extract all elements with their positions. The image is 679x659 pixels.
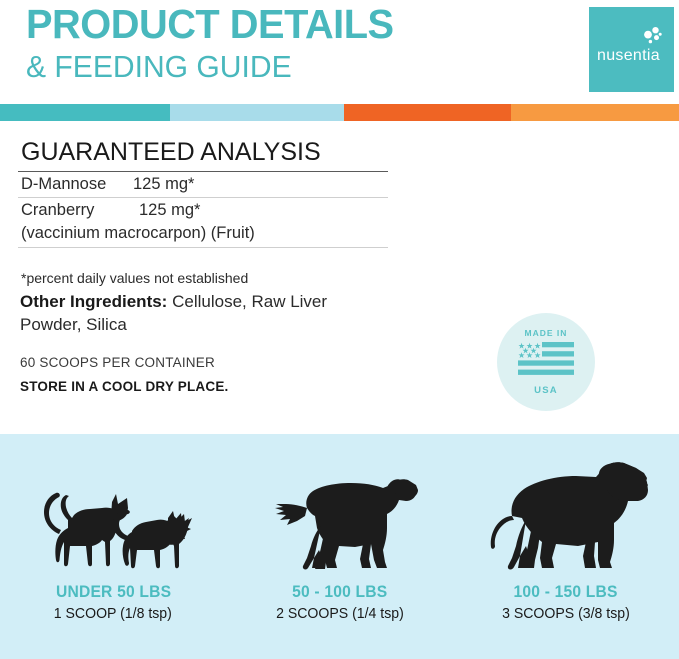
other-ingredients-value-2: Powder, Silica <box>20 314 370 337</box>
feeding-dose: 3 SCOOPS (3/8 tsp) <box>502 605 630 622</box>
color-band-light-orange <box>511 104 679 121</box>
color-band-orange <box>344 104 511 121</box>
page-header: PRODUCT DETAILS & FEEDING GUIDE nusentia <box>0 0 679 104</box>
feeding-weight-range: UNDER 50 LBS <box>56 582 171 602</box>
page-title: PRODUCT DETAILS <box>26 2 394 46</box>
title-block: PRODUCT DETAILS & FEEDING GUIDE <box>26 2 405 84</box>
cat-and-small-dog-silhouette-icon <box>28 456 198 576</box>
analysis-footnote: *percent daily values not established <box>21 270 388 286</box>
brand-logo: nusentia <box>589 7 674 92</box>
other-ingredients-panel: Other Ingredients: Cellulose, Raw Liver … <box>20 291 370 394</box>
feeding-guide-column-medium: 50 - 100 LBS 2 SCOOPS (1/4 tsp) <box>226 434 452 659</box>
accent-color-bar <box>0 104 679 121</box>
storage-instructions: STORE IN A COOL DRY PLACE. <box>20 379 370 394</box>
feeding-weight-range: 50 - 100 LBS <box>292 582 387 602</box>
color-band-teal <box>0 104 170 121</box>
color-band-light-blue <box>170 104 344 121</box>
large-dog-silhouette-icon <box>478 456 653 576</box>
guaranteed-analysis-panel: GUARANTEED ANALYSIS D-Mannose 125 mg* Cr… <box>18 138 388 286</box>
other-ingredients-value-1: Cellulose, Raw Liver <box>172 292 327 311</box>
other-ingredients-line-1: Other Ingredients: Cellulose, Raw Liver <box>20 291 370 314</box>
feeding-guide-column-small: UNDER 50 LBS 1 SCOOP (1/8 tsp) <box>0 434 226 659</box>
medium-dog-silhouette-icon <box>259 456 419 576</box>
made-in-usa-badge: MADE IN USA <box>497 313 595 411</box>
feeding-dose: 1 SCOOP (1/8 tsp) <box>54 605 172 622</box>
analysis-divider-bottom <box>18 247 388 248</box>
page-subtitle: & FEEDING GUIDE <box>26 50 394 84</box>
analysis-row-amount: 125 mg* <box>139 201 200 220</box>
made-in-label: MADE IN <box>525 328 568 338</box>
analysis-row: Cranberry 125 mg* <box>18 198 388 223</box>
guaranteed-analysis-title: GUARANTEED ANALYSIS <box>21 138 388 167</box>
bubbles-icon <box>643 27 663 49</box>
analysis-row-amount: 125 mg* <box>133 175 194 194</box>
usa-label: USA <box>534 385 558 396</box>
feeding-guide-column-large: 100 - 150 LBS 3 SCOOPS (3/8 tsp) <box>453 434 679 659</box>
analysis-row-name: Cranberry <box>21 201 139 220</box>
us-flag-icon <box>518 342 574 380</box>
feeding-guide-panel: UNDER 50 LBS 1 SCOOP (1/8 tsp) <box>0 434 679 659</box>
main-content: GUARANTEED ANALYSIS D-Mannose 125 mg* Cr… <box>0 121 679 434</box>
analysis-row: D-Mannose 125 mg* <box>18 172 388 197</box>
feeding-guide-columns: UNDER 50 LBS 1 SCOOP (1/8 tsp) <box>0 434 679 659</box>
other-ingredients-label: Other Ingredients: <box>20 292 167 311</box>
feeding-dose: 2 SCOOPS (1/4 tsp) <box>276 605 404 622</box>
feeding-weight-range: 100 - 150 LBS <box>514 582 618 602</box>
scoops-per-container: 60 SCOOPS PER CONTAINER <box>20 355 370 370</box>
brand-logo-text: nusentia <box>597 47 660 65</box>
analysis-row-subtext: (vaccinium macrocarpon) (Fruit) <box>18 223 388 247</box>
analysis-row-name: D-Mannose <box>21 175 133 194</box>
